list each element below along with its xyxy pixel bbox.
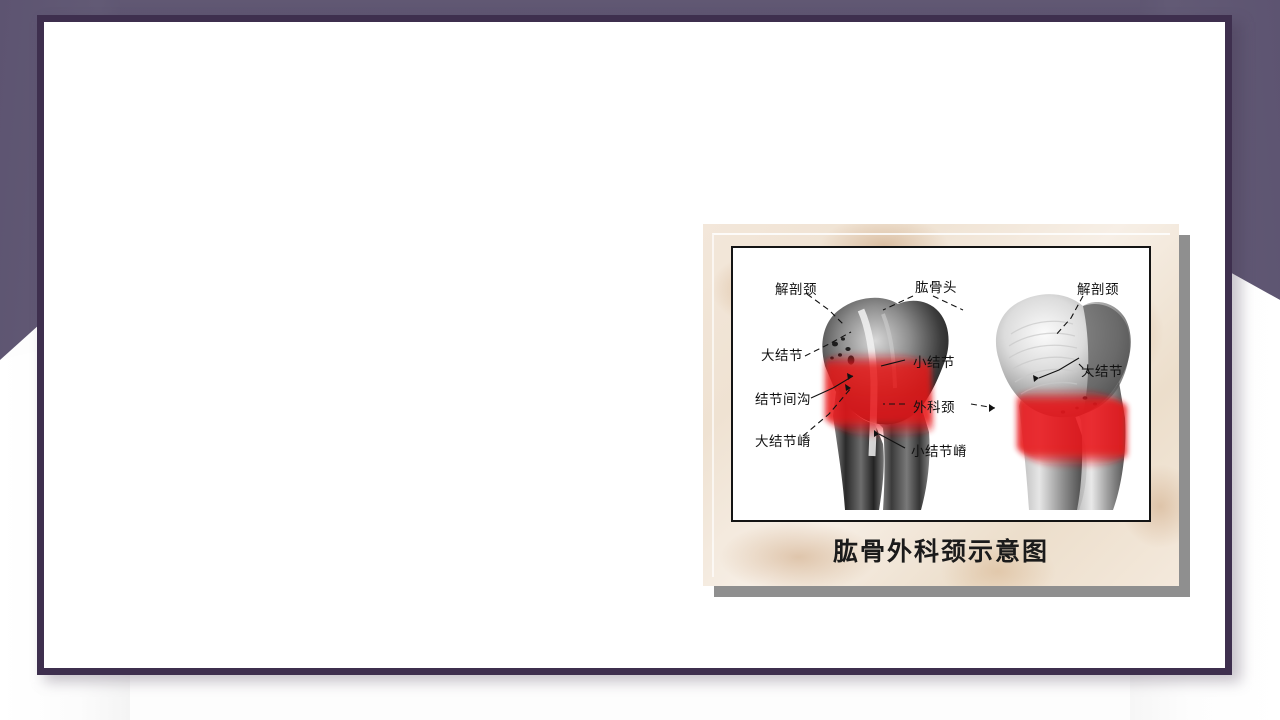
label-greater-tubercle-left: 大结节 [761, 344, 803, 364]
figure-caption: 肱骨外科颈示意图 [703, 532, 1179, 568]
slide: 解剖概要 肱骨大结节、肱骨小结节、移行为肱骨干的交界部，是松质骨和密质骨的交界处… [0, 0, 1280, 720]
label-lesser-tubercle: 小结节 [913, 351, 955, 371]
label-humeral-head: 肱骨头 [915, 276, 957, 296]
label-anatomical-neck-right: 解剖颈 [1077, 278, 1119, 298]
label-lesser-tubercle-crest: 小结节嵴 [911, 440, 967, 460]
figure-block: 解剖颈 大结节 结节间沟 大结节嵴 肱骨头 小结节 外科颈 小结节嵴 解剖颈 大… [703, 224, 1190, 597]
label-anatomical-neck-left: 解剖颈 [775, 278, 817, 298]
label-greater-tubercle-crest: 大结节嵴 [755, 430, 811, 450]
label-surgical-neck: 外科颈 [913, 396, 955, 416]
figure-image-area: 解剖颈 大结节 结节间沟 大结节嵴 肱骨头 小结节 外科颈 小结节嵴 解剖颈 大… [731, 246, 1151, 522]
label-intertubercular-groove: 结节间沟 [755, 388, 811, 408]
label-greater-tubercle-right: 大结节 [1081, 360, 1123, 380]
